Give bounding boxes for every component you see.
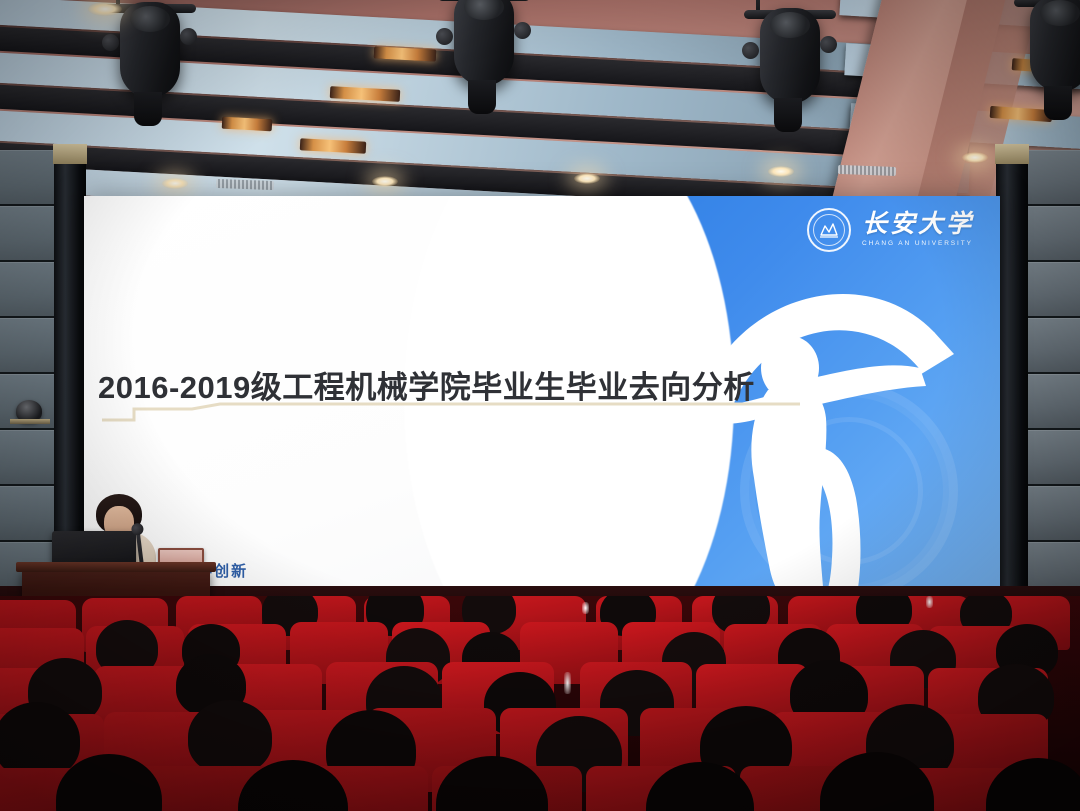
university-seal-icon xyxy=(807,208,851,252)
pilaster-cap xyxy=(53,144,87,164)
audience-area xyxy=(0,596,1080,811)
audience-head xyxy=(188,700,272,774)
wall-panel xyxy=(1022,486,1080,542)
stage-light-lens xyxy=(464,0,504,20)
wall-pilaster-right xyxy=(996,150,1028,620)
stage-light-knob xyxy=(742,42,759,59)
wall-panel xyxy=(1022,262,1080,318)
university-name-cn: 长安大学 xyxy=(862,212,974,237)
emblem-watermark-icon xyxy=(740,382,958,592)
downlight xyxy=(768,166,794,177)
pilaster-cap xyxy=(995,144,1029,164)
stage-light-knob xyxy=(820,36,837,53)
auditorium-photo: 长安大学 CHANG AN UNIVERSITY xyxy=(0,0,1080,811)
wall-panel xyxy=(1022,374,1080,430)
downlight xyxy=(162,178,188,189)
university-logo: 长安大学 CHANG AN UNIVERSITY xyxy=(807,208,974,252)
wall-right xyxy=(1022,150,1080,620)
downlight xyxy=(962,152,988,163)
stage-light-body xyxy=(760,8,820,104)
stage-light-knob xyxy=(436,28,453,45)
stage-light-tail xyxy=(134,92,162,126)
stage-light-body xyxy=(1030,0,1080,92)
stage-light-lens xyxy=(130,6,170,32)
stage-light-tail xyxy=(468,80,496,114)
wall-panel xyxy=(1022,318,1080,374)
stage-light-knob xyxy=(102,34,119,51)
aisle-light xyxy=(926,596,933,608)
wall-panel xyxy=(1022,430,1080,486)
stage-light-lens xyxy=(770,12,810,38)
podium-top xyxy=(16,562,216,572)
wall-speaker-icon xyxy=(16,400,42,422)
stage-light-tail xyxy=(774,98,802,132)
university-logo-text: 长安大学 CHANG AN UNIVERSITY xyxy=(862,212,974,248)
stage-light-tail xyxy=(1044,86,1072,120)
downlight xyxy=(372,176,398,187)
aisle-light xyxy=(582,602,589,614)
downlight xyxy=(88,2,122,16)
downlight xyxy=(574,173,600,184)
stage-light-body xyxy=(454,0,514,86)
aisle-light xyxy=(564,672,571,694)
wall-panel xyxy=(1022,206,1080,262)
stage-light-knob xyxy=(514,22,531,39)
stage-light-body xyxy=(120,2,180,98)
university-name-en: CHANG AN UNIVERSITY xyxy=(862,241,974,248)
projection-screen: 长安大学 CHANG AN UNIVERSITY xyxy=(84,196,1000,592)
wall-panel xyxy=(1022,150,1080,206)
stage-light-knob xyxy=(180,28,197,45)
stage-light-lens xyxy=(1040,0,1080,26)
strip-light xyxy=(222,117,273,132)
audience-head xyxy=(0,702,80,778)
slide-title: 2016-2019级工程机械学院毕业生毕业去向分析 xyxy=(98,362,755,407)
